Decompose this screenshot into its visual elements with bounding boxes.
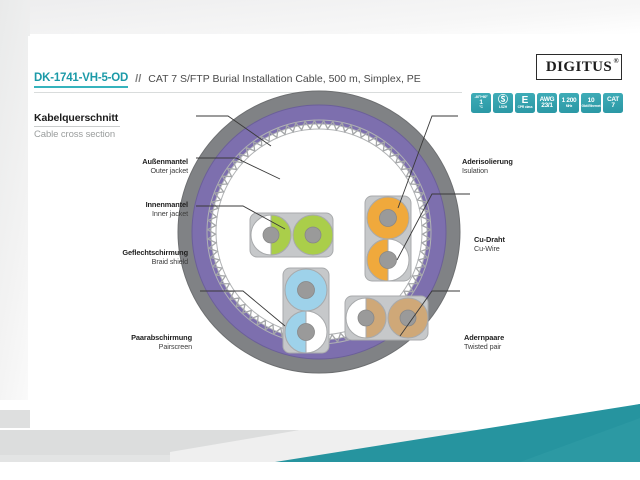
datasheet-page: DK-1741-VH-5-OD // CAT 7 S/FTP Burial In… — [0, 0, 640, 480]
cu-core — [263, 227, 279, 243]
pair-brown — [345, 296, 428, 340]
callout-label-en: Pairscreen — [52, 342, 192, 351]
callout-insulation: Aderisolierung Isulation — [462, 157, 602, 175]
cable-cross-section-diagram — [28, 36, 628, 408]
cu-core — [380, 210, 397, 227]
callout-cu-wire: Cu-Draht Cu-Wire — [474, 235, 614, 253]
cu-core — [358, 310, 374, 326]
cu-core — [305, 227, 321, 243]
callout-label-en: Isulation — [462, 166, 602, 175]
callout-label-de: Cu-Draht — [474, 235, 614, 244]
page-top-shade — [0, 0, 640, 34]
callout-braid-shield: Geflechtschirmung Braid shield — [48, 248, 188, 266]
callout-label-de: Aderisolierung — [462, 157, 602, 166]
cu-core — [298, 282, 315, 299]
pair-blue — [283, 268, 329, 353]
callout-label-en: Twisted pair — [464, 342, 604, 351]
content-card: DK-1741-VH-5-OD // CAT 7 S/FTP Burial In… — [28, 36, 628, 408]
callout-label-de: Geflechtschirmung — [48, 248, 188, 257]
footer-graphic — [0, 400, 640, 480]
cu-core — [400, 310, 416, 326]
callout-label-en: Inner jacket — [48, 209, 188, 218]
callout-label-de: Außenmantel — [48, 157, 188, 166]
cu-core — [380, 252, 397, 269]
callout-label-en: Outer jacket — [48, 166, 188, 175]
callout-label-en: Cu-Wire — [474, 244, 614, 253]
pair-orange — [365, 196, 411, 281]
callout-label-de: Adernpaare — [464, 333, 604, 342]
callout-label-de: Innenmantel — [48, 200, 188, 209]
callout-label-de: Paarabschirmung — [52, 333, 192, 342]
callout-twisted-pair: Adernpaare Twisted pair — [464, 333, 604, 351]
pair-green — [250, 213, 333, 257]
callout-outer-jacket: Außenmantel Outer jacket — [48, 157, 188, 175]
callout-label-en: Braid shield — [48, 257, 188, 266]
cu-core — [298, 324, 315, 341]
callout-pairscreen: Paarabschirmung Pairscreen — [52, 333, 192, 351]
callout-inner-jacket: Innenmantel Inner jacket — [48, 200, 188, 218]
